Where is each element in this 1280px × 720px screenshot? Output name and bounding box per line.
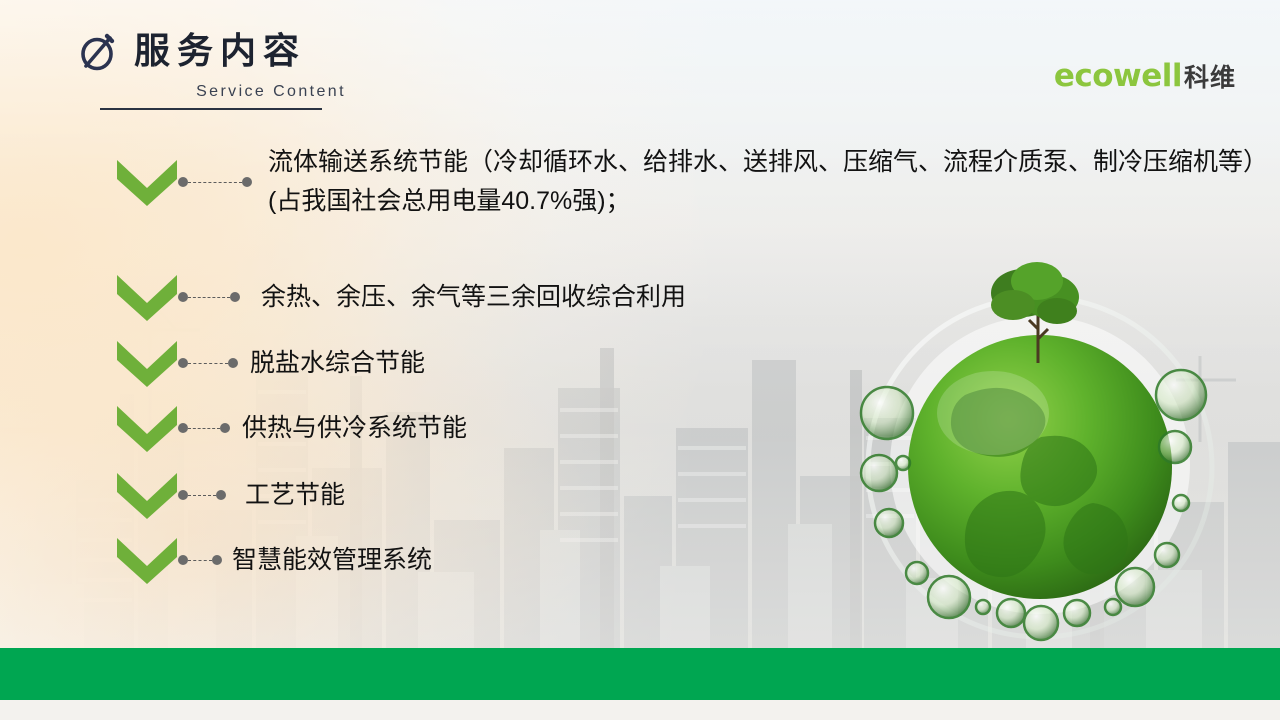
connector-dashed-line [188,363,228,364]
service-content-list: 流体输送系统节能（冷却循环水、给排水、送排风、压缩气、流程介质泵、制冷压缩机等）… [0,0,1280,640]
list-item-label: 余热、余压、余气等三余回收综合利用 [254,278,686,317]
connector-dashed-line [188,560,212,561]
presentation-slide: 服务内容 Service Content ecowell 科维 流体输送系统节能… [0,0,1280,720]
connector-dot-start [178,555,188,565]
connector-dot-start [178,292,188,302]
bullet-connector [178,358,238,368]
chevron-down-icon [116,338,178,388]
connector-dot-end [230,292,240,302]
chevron-down-icon [116,535,178,585]
connector-dot-start [178,358,188,368]
list-item-label: 智慧能效管理系统 [232,541,432,580]
connector-dot-end [212,555,222,565]
chevron-down-icon [116,470,178,520]
connector-dot-end [228,358,238,368]
chevron-down-icon [116,403,178,453]
list-item: 余热、余压、余气等三余回收综合利用 [116,272,686,322]
footer-green-bar [0,648,1280,700]
chevron-down-icon [116,157,178,207]
list-item-label: 流体输送系统节能（冷却循环水、给排水、送排风、压缩气、流程介质泵、制冷压缩机等）… [268,143,1268,221]
list-item: 脱盐水综合节能 [116,338,425,388]
list-item: 智慧能效管理系统 [116,535,432,585]
list-item-label: 脱盐水综合节能 [250,344,425,383]
list-item-label: 供热与供冷系统节能 [242,409,467,448]
connector-dashed-line [188,495,216,496]
list-item: 流体输送系统节能（冷却循环水、给排水、送排风、压缩气、流程介质泵、制冷压缩机等）… [116,143,1268,221]
list-item-label: 工艺节能 [238,476,345,515]
bullet-connector [178,177,252,187]
connector-dot-end [220,423,230,433]
bullet-connector [178,292,240,302]
bullet-connector [178,423,230,433]
connector-dot-start [178,423,188,433]
connector-dot-start [178,177,188,187]
connector-dashed-line [188,182,242,183]
footer-bottom-strip [0,700,1280,720]
bullet-connector [178,490,226,500]
connector-dot-end [242,177,252,187]
connector-dot-end [216,490,226,500]
connector-dashed-line [188,428,220,429]
chevron-down-icon [116,272,178,322]
bullet-connector [178,555,222,565]
connector-dashed-line [188,297,230,298]
list-item: 工艺节能 [116,470,345,520]
connector-dot-start [178,490,188,500]
list-item: 供热与供冷系统节能 [116,403,467,453]
